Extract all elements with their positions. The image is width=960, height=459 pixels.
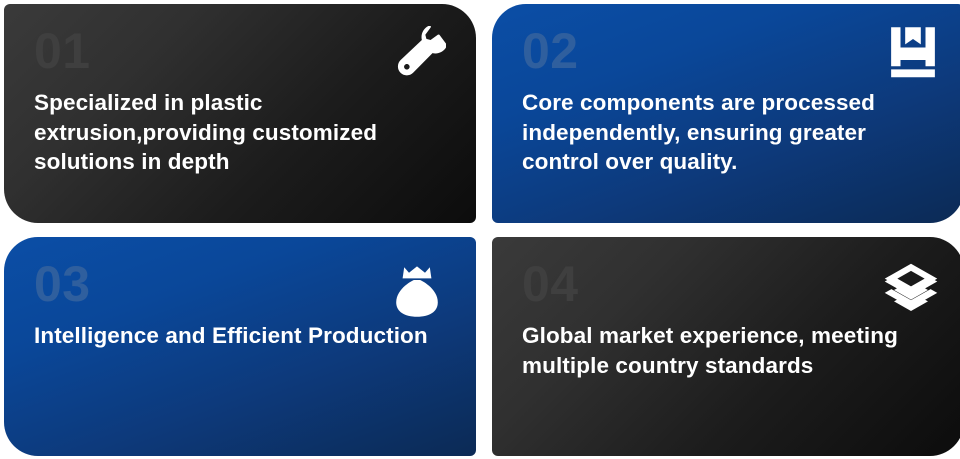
card-text: Core components are processed independen…: [522, 88, 936, 177]
card-number: 01: [34, 26, 448, 76]
feature-card-04[interactable]: 04 Global market experience, meeting mul…: [492, 237, 960, 456]
card-number: 04: [522, 259, 936, 309]
feature-card-grid: 01 Specialized in plastic extrusion,prov…: [0, 0, 960, 459]
feature-card-03[interactable]: 03 Intelligence and Efficient Production: [4, 237, 476, 456]
feature-card-01[interactable]: 01 Specialized in plastic extrusion,prov…: [4, 4, 476, 223]
card-number: 02: [522, 26, 936, 76]
feature-card-02[interactable]: 02 Core components are processed indepen…: [492, 4, 960, 223]
card-text: Intelligence and Efficient Production: [34, 321, 448, 351]
card-text: Global market experience, meeting multip…: [522, 321, 936, 380]
card-text: Specialized in plastic extrusion,providi…: [34, 88, 448, 177]
card-number: 03: [34, 259, 448, 309]
